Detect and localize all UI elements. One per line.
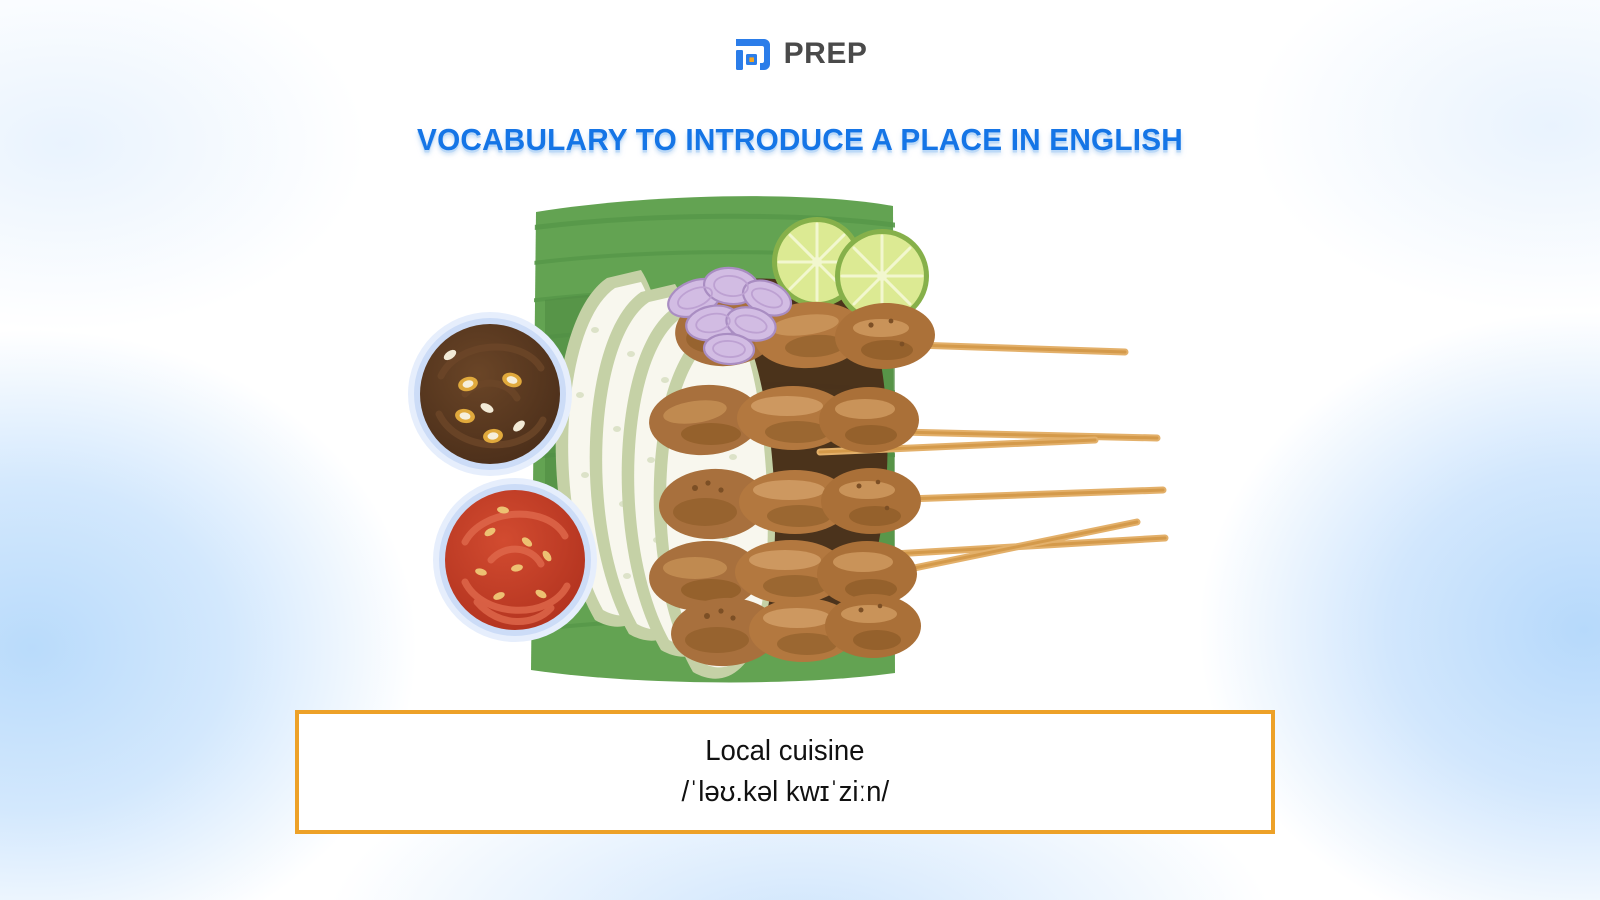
page-title: VOCABULARY TO INTRODUCE A PLACE IN ENGLI… — [32, 122, 1568, 158]
chili-sauce-bowl — [433, 478, 597, 642]
prep-logo-mark-icon — [733, 34, 773, 74]
satay-skewer — [657, 466, 921, 542]
illustration-svg — [395, 190, 1185, 700]
satay-skewers — [647, 289, 936, 669]
satay-platter-illustration — [395, 190, 1185, 700]
vocabulary-term: Local cuisine — [705, 733, 864, 770]
satay-skewer — [647, 381, 919, 459]
brand-logo: PREP — [0, 34, 1600, 74]
vocabulary-card: Local cuisine /ˈləʊ.kəl kwɪˈziːn/ — [295, 710, 1275, 834]
vocabulary-phonetic: /ˈləʊ.kəl kwɪˈziːn/ — [681, 774, 889, 811]
peanut-sauce-bowl — [408, 312, 572, 476]
brand-wordmark: PREP — [784, 39, 868, 69]
